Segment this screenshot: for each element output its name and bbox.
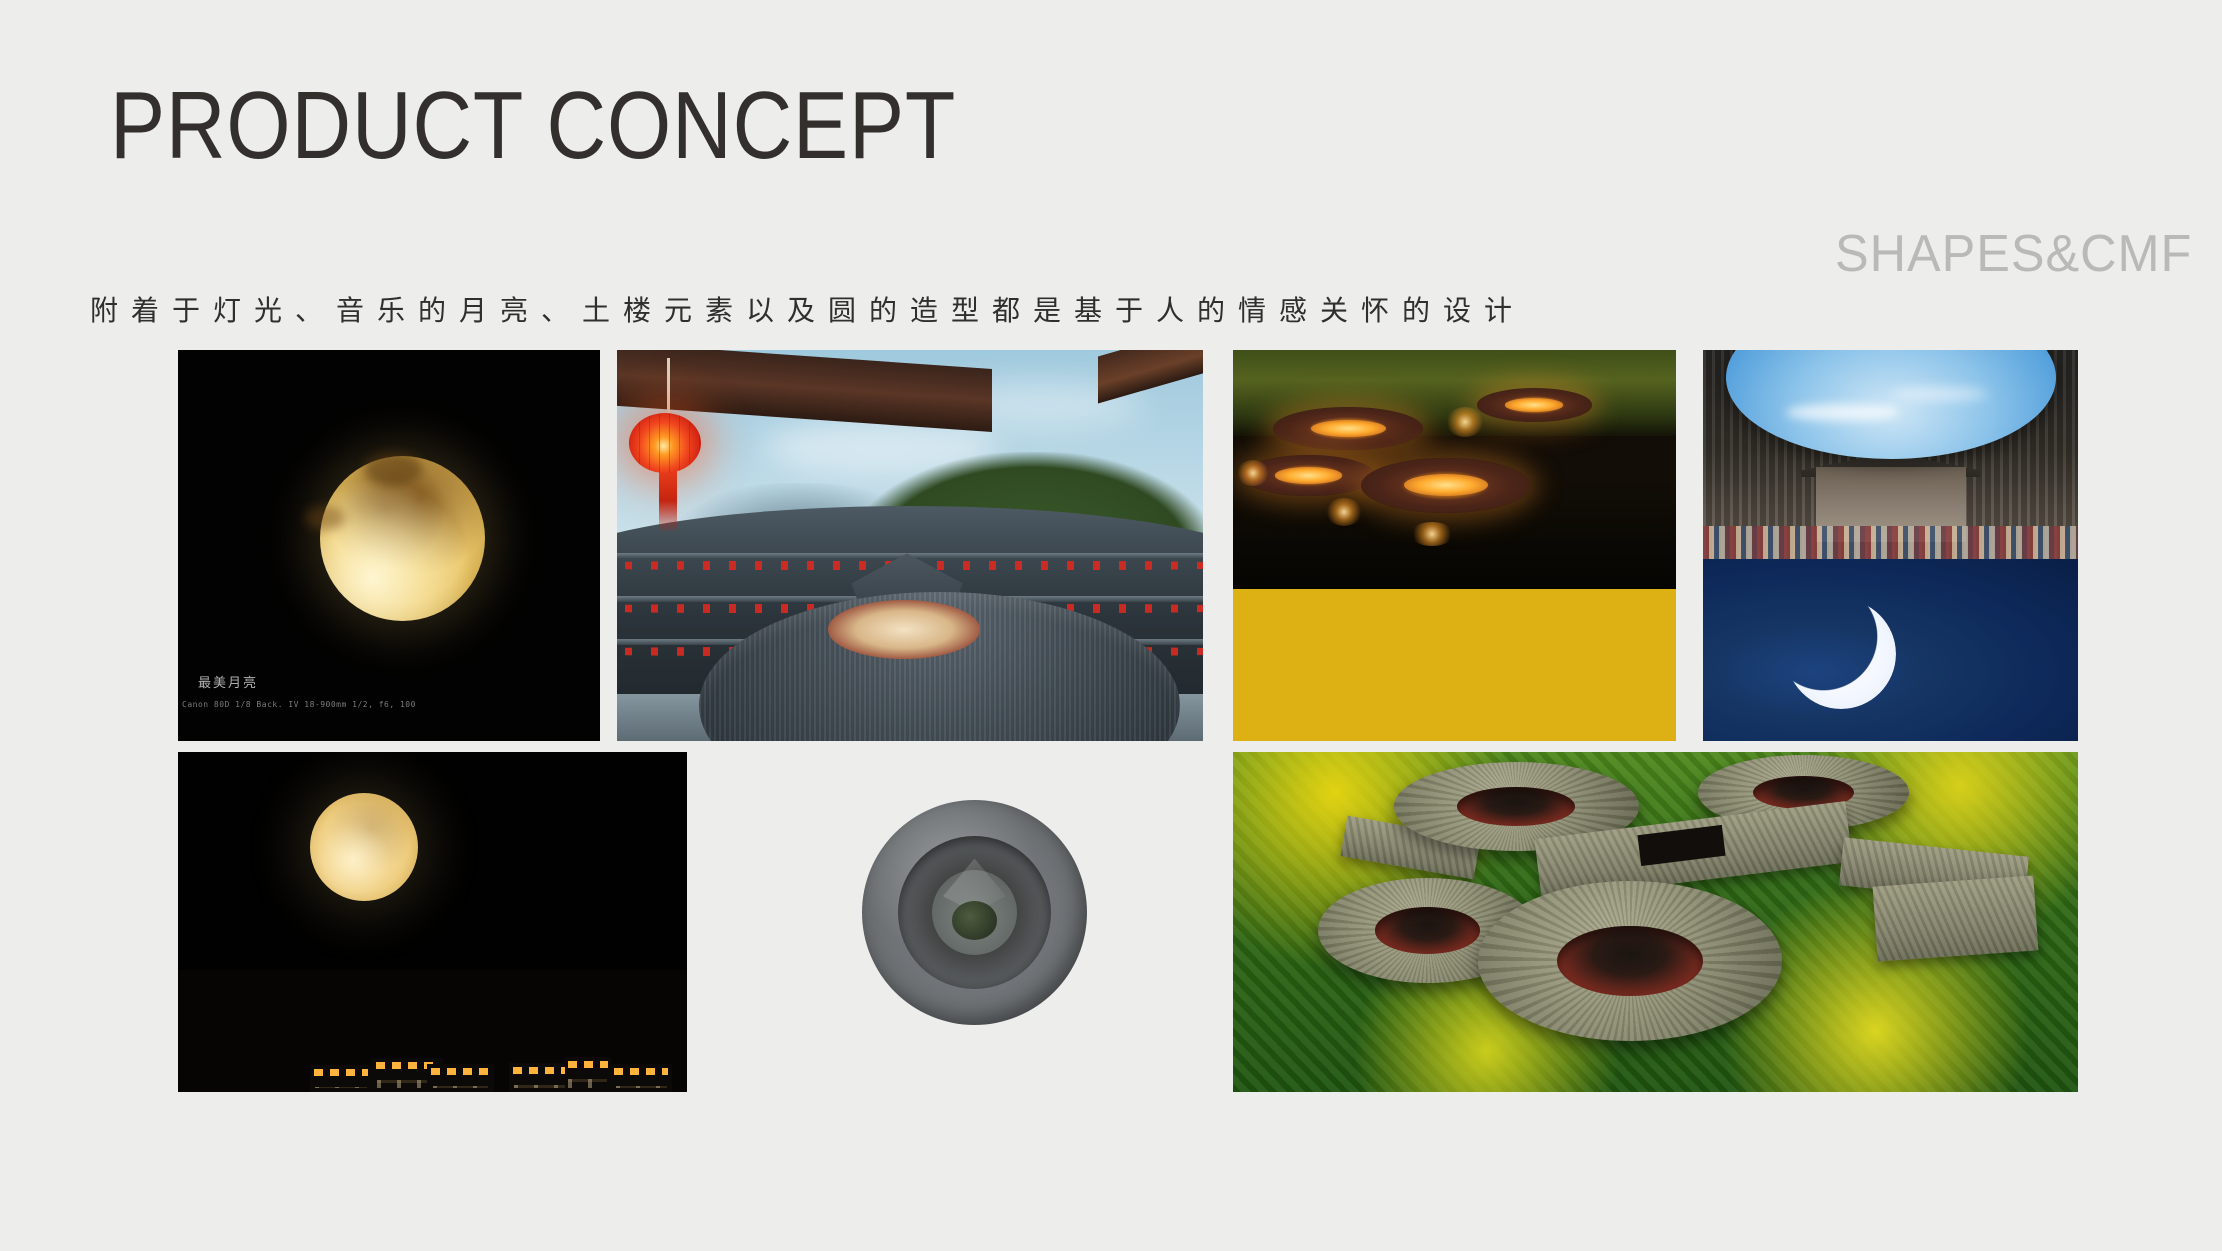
image-tulou-topview-render[interactable] — [862, 800, 1087, 1025]
building-silhouette — [310, 1065, 371, 1092]
cloud-shape — [1786, 404, 1899, 421]
watermark-shapes-cmf: SHAPES&CMF — [1835, 224, 2192, 284]
light-glow — [1326, 498, 1362, 526]
image-tulou-aerial-night[interactable] — [1233, 350, 1676, 589]
crescent-moon-icon — [1786, 599, 1896, 709]
subtitle-text: 附着于灯光、音乐的月亮、土楼元素以及圆的造型都是基于人的情感关怀的设计 — [90, 289, 1525, 329]
city-skyline-band — [178, 970, 687, 1092]
rectangular-building — [1873, 876, 2038, 962]
slide-canvas: PRODUCT CONCEPT SHAPES&CMF 附着于灯光、音乐的月亮、土… — [0, 0, 2222, 1251]
moon-crater-shadow — [305, 506, 345, 530]
courtyard-stalls — [1703, 526, 2078, 559]
image-moon-over-city[interactable] — [178, 752, 687, 1092]
lantern-cord — [667, 358, 670, 416]
image-tulou-courtyard-lantern[interactable] — [617, 350, 1203, 741]
photo-caption-label: 最美月亮 — [198, 672, 258, 691]
light-glow — [1446, 407, 1484, 437]
image-full-moon-night[interactable]: 最美月亮 Canon 80D 1/8 Back. IV 18-900mm 1/2… — [178, 350, 600, 741]
tulou-ring-lit — [1477, 388, 1592, 421]
tulou-ring-lit — [1273, 407, 1424, 450]
page-title: PRODUCT CONCEPT — [110, 78, 956, 174]
image-tulou-cluster-daytime[interactable] — [1233, 752, 2078, 1092]
building-silhouette — [611, 1064, 672, 1092]
tulou-core-element — [952, 901, 997, 939]
image-crescent-moon[interactable] — [1703, 559, 2078, 741]
tulou-ring-lit — [1361, 458, 1529, 513]
lantern-tassel — [659, 463, 677, 531]
moon-crater-shadow — [364, 452, 422, 486]
image-tulou-sky-oculus[interactable] — [1703, 350, 2078, 559]
tulou-ring-roof — [1478, 881, 1782, 1041]
photo-exif-label: Canon 80D 1/8 Back. IV 18-900mm 1/2, f6,… — [182, 700, 416, 709]
building-silhouette — [565, 1057, 611, 1092]
courtyard-opening — [828, 600, 980, 659]
light-glow — [1410, 522, 1454, 546]
color-swatch-yellow[interactable] — [1233, 589, 1676, 741]
cloud-shape — [1891, 388, 1989, 401]
moon-disc-icon — [310, 793, 418, 901]
building-silhouette — [427, 1064, 493, 1092]
lantern-ribs — [629, 413, 701, 473]
